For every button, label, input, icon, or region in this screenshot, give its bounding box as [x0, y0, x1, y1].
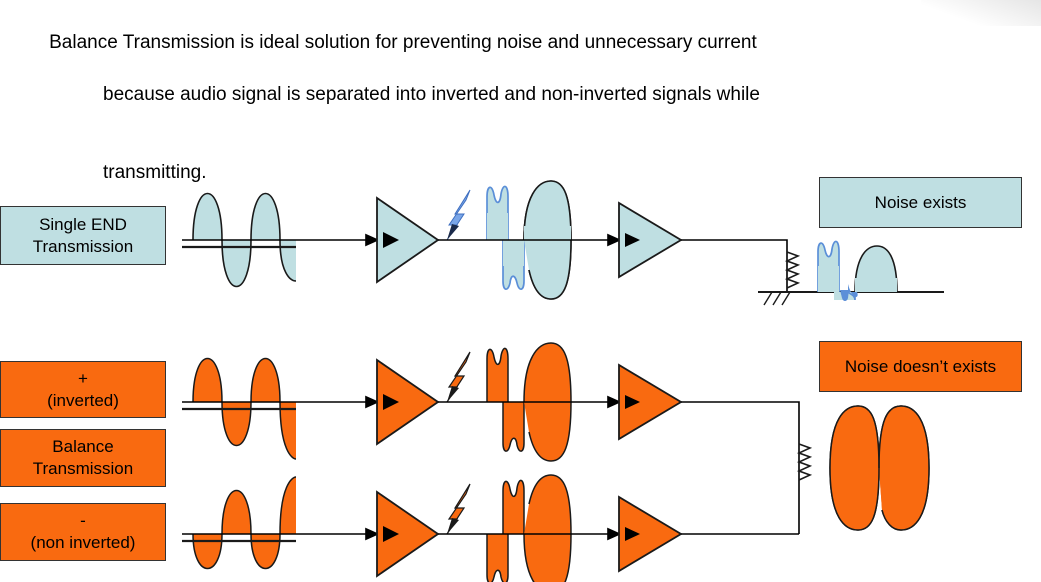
signal-line-out-single-end	[681, 240, 787, 292]
waveform-mid-noisy-balance-minus	[487, 475, 571, 582]
label-single-end-line-2: Transmission	[33, 236, 133, 258]
label-minus-non-inverted[interactable]: - (non inverted)	[0, 503, 166, 561]
result-noise-doesnt-exist-label: Noise doesn’t exists	[845, 356, 996, 378]
waveform-output-clean-balance	[830, 406, 929, 530]
resistor-bridge-balance	[799, 444, 810, 480]
result-noise-exists[interactable]: Noise exists	[819, 177, 1022, 228]
noise-lightning-bolt-single-end	[447, 190, 470, 240]
noise-lightning-bolt-balance-minus	[447, 484, 470, 534]
amplifier-left-single-end[interactable]	[377, 198, 438, 282]
slide-canvas: Balance Transmission is ideal solution f…	[0, 0, 1041, 582]
label-balance-transmission-line-2: Transmission	[33, 458, 133, 480]
result-noise-doesnt-exist[interactable]: Noise doesn’t exists	[819, 341, 1022, 392]
label-balance-transmission-line-1: Balance	[52, 436, 113, 458]
label-plus-inverted-line-1: +	[78, 368, 88, 390]
label-single-end-transmission[interactable]: Single END Transmission	[0, 206, 166, 265]
amplifier-left-balance-plus[interactable]	[377, 360, 438, 444]
result-noise-exists-label: Noise exists	[875, 192, 967, 214]
label-balance-transmission[interactable]: Balance Transmission	[0, 429, 166, 487]
amplifier-left-balance-minus[interactable]	[377, 492, 438, 576]
amplifier-right-balance-minus[interactable]	[619, 497, 681, 571]
row-balance-plus	[182, 343, 810, 534]
amplifier-right-single-end[interactable]	[619, 203, 681, 277]
label-single-end-line-1: Single END	[39, 214, 127, 236]
noise-lightning-bolt-balance-plus	[447, 352, 470, 402]
label-plus-inverted-line-2: (inverted)	[47, 390, 119, 412]
signal-line-out-balance	[681, 402, 799, 534]
amplifier-right-balance-plus[interactable]	[619, 365, 681, 439]
label-minus-non-inverted-line-2: (non inverted)	[31, 532, 136, 554]
label-minus-non-inverted-line-1: -	[80, 510, 86, 532]
waveform-input-balance-minus	[193, 477, 296, 569]
signal-flow-diagram	[0, 0, 1041, 582]
label-plus-inverted[interactable]: + (inverted)	[0, 361, 166, 418]
row-balance-minus	[182, 475, 799, 582]
